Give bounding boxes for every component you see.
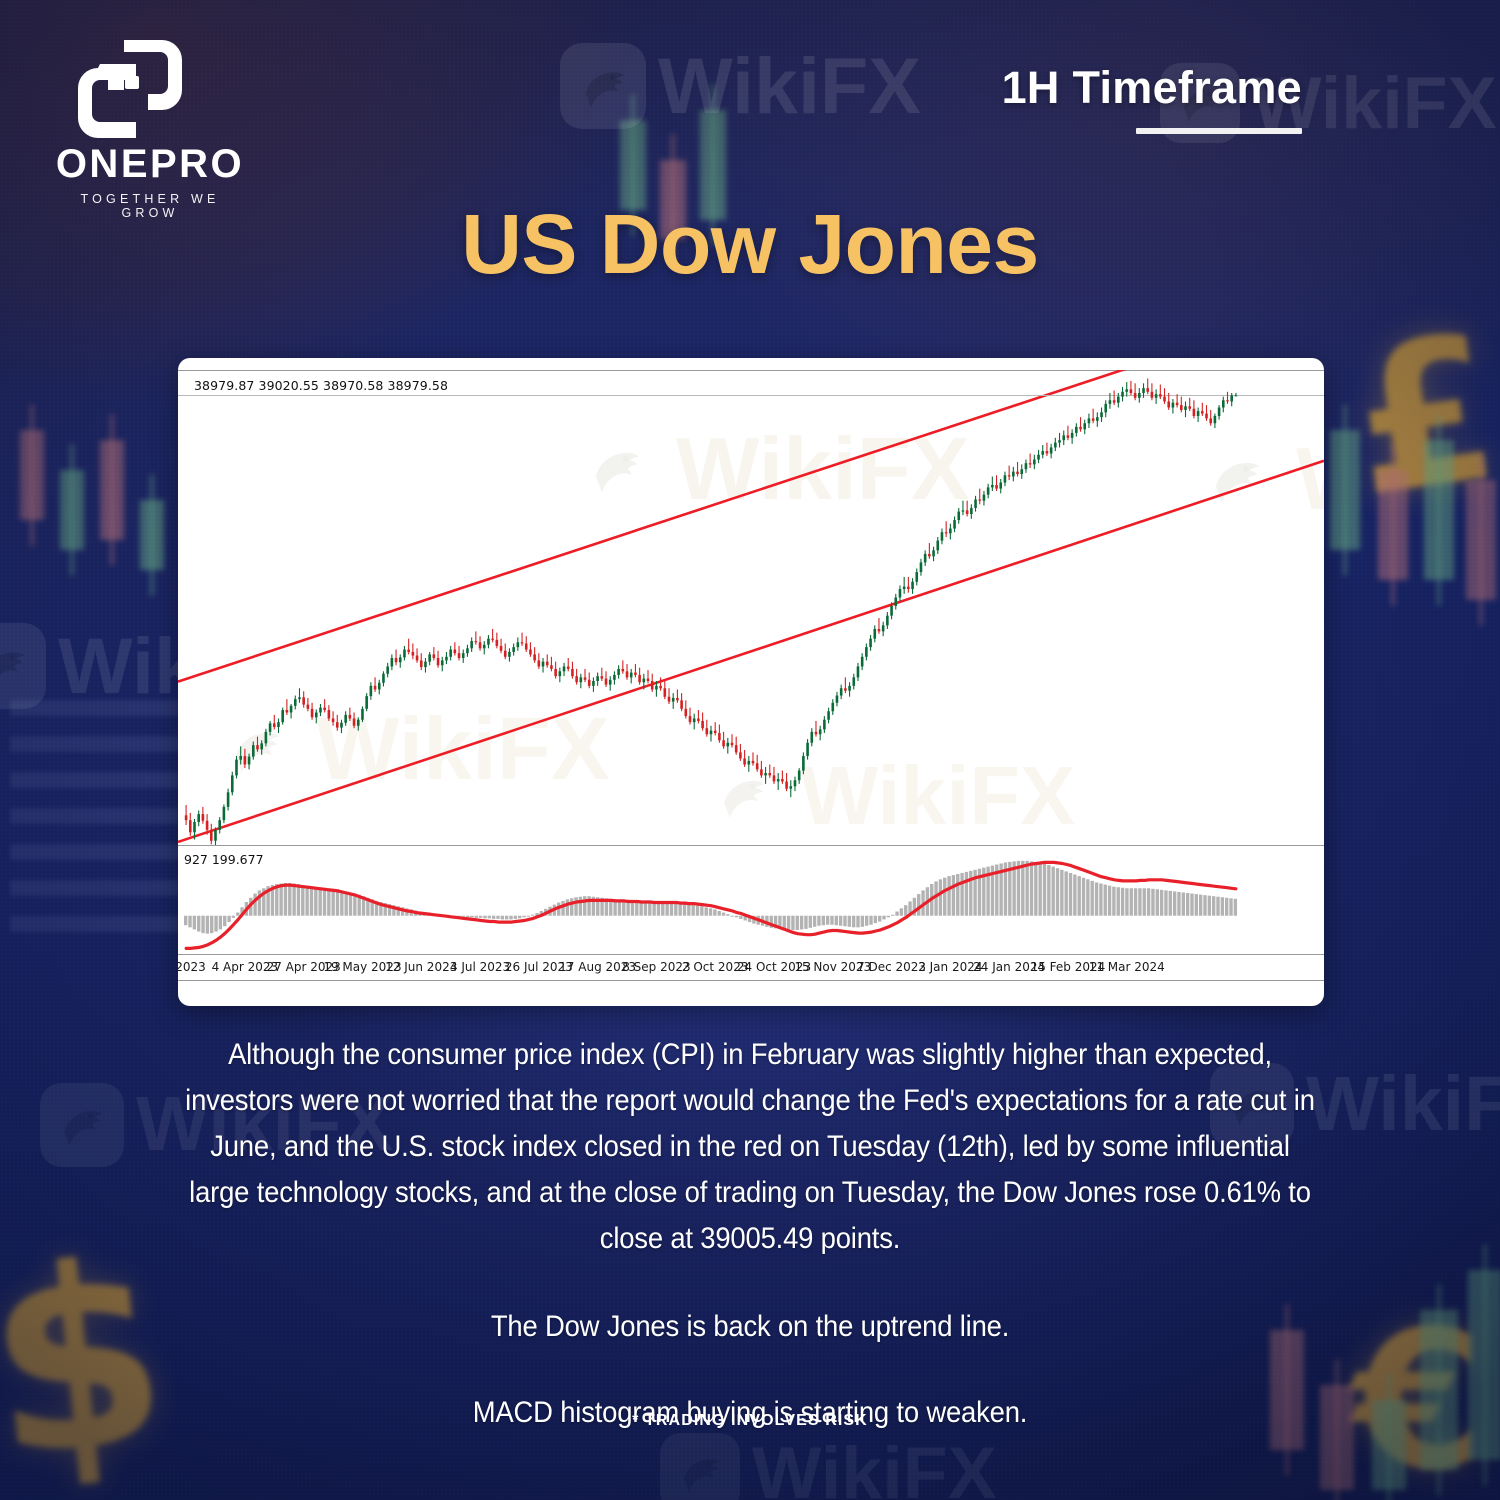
- candle-body: [521, 642, 524, 643]
- candle-body: [1067, 435, 1070, 437]
- candle-body: [680, 700, 683, 708]
- macd-histogram-bar: [1234, 899, 1237, 916]
- macd-histogram-bar: [1125, 888, 1128, 915]
- macd-histogram-bar: [900, 908, 903, 915]
- macd-histogram-bar: [1160, 890, 1163, 916]
- macd-histogram-bar: [947, 876, 950, 916]
- x-axis-tick-label: 11 Mar 2024: [1089, 960, 1165, 974]
- macd-histogram-bar: [1104, 885, 1107, 916]
- candle-body: [747, 761, 750, 765]
- macd-histogram-bar: [683, 904, 686, 916]
- candle-body: [1020, 469, 1023, 474]
- candle-body: [567, 666, 570, 668]
- macd-histogram-bar: [1130, 888, 1133, 915]
- macd-histogram-bar: [1025, 861, 1028, 916]
- price-candlestick-chart[interactable]: [178, 370, 1324, 848]
- macd-histogram-bar: [843, 916, 846, 927]
- chart-panel[interactable]: 38979.87 39020.55 38970.58 38979.58 927 …: [178, 358, 1324, 1006]
- macd-histogram-bar: [188, 916, 191, 928]
- candle-body: [601, 676, 604, 678]
- candle-body: [1130, 389, 1133, 393]
- candle-body: [319, 708, 322, 713]
- macd-histogram-bar: [475, 916, 478, 918]
- candle-body: [370, 686, 373, 696]
- macd-histogram-bar: [1021, 861, 1024, 916]
- macd-histogram-bar: [952, 875, 955, 916]
- candle-body: [1205, 414, 1208, 419]
- candle-body: [269, 723, 272, 731]
- candle-body: [957, 512, 960, 520]
- brand-name: ONEPRO: [50, 142, 250, 187]
- macd-histogram-bar: [1099, 884, 1102, 916]
- candle-body: [466, 648, 469, 653]
- macd-histogram-bar: [574, 897, 577, 915]
- candle-body: [1138, 393, 1141, 398]
- macd-histogram-bar: [466, 916, 469, 918]
- candle-body: [941, 532, 944, 540]
- candle-body: [664, 688, 667, 696]
- candle-body: [588, 680, 591, 686]
- macd-histogram-bar: [1169, 891, 1172, 916]
- macd-histogram-bar: [292, 884, 295, 916]
- macd-histogram-bar: [639, 902, 642, 916]
- macd-histogram-bar: [488, 916, 491, 919]
- macd-histogram-bar: [344, 891, 347, 915]
- macd-histogram-bar: [1078, 876, 1081, 916]
- candle-body: [525, 643, 528, 649]
- macd-histogram-bar: [566, 899, 569, 915]
- candle-body: [773, 775, 776, 781]
- candle-body: [496, 640, 499, 646]
- candle-body: [1058, 440, 1061, 442]
- candle-body: [454, 650, 457, 654]
- macd-histogram-bar: [1208, 896, 1211, 916]
- macd-histogram-bar: [943, 878, 946, 916]
- candle-body: [1037, 455, 1040, 460]
- macd-histogram-bar: [709, 908, 712, 915]
- candle-body: [1134, 393, 1137, 398]
- macd-histogram-bar: [691, 905, 694, 916]
- candle-body: [420, 660, 423, 667]
- macd-histogram-bar: [1073, 875, 1076, 916]
- candle-body: [273, 723, 276, 727]
- macd-histogram-bar: [835, 916, 838, 926]
- macd-histogram-bar: [1182, 892, 1185, 915]
- interlocking-squares-icon: [72, 34, 192, 138]
- candle-body: [1125, 389, 1128, 391]
- page-title: US Dow Jones: [0, 196, 1500, 293]
- macd-histogram-bar: [297, 884, 300, 916]
- macd-histogram-bar: [279, 884, 282, 916]
- candle-body: [315, 712, 318, 717]
- macd-histogram-bar: [1138, 888, 1141, 915]
- macd-histogram-bar: [657, 903, 660, 916]
- candle-body: [1088, 418, 1091, 423]
- candle-body: [227, 792, 230, 807]
- candle-body: [886, 616, 889, 626]
- body-paragraph: Although the consumer price index (CPI) …: [183, 1032, 1318, 1262]
- macd-histogram-bar: [830, 916, 833, 925]
- candle-body: [344, 715, 347, 723]
- macd-histogram-bar: [865, 916, 868, 926]
- candle-body: [1117, 397, 1120, 403]
- candle-body: [1109, 400, 1112, 404]
- macd-histogram-bar: [956, 874, 959, 916]
- macd-histogram-bar: [201, 916, 204, 933]
- macd-histogram-bar: [253, 894, 256, 916]
- candle-body: [1050, 447, 1053, 453]
- candle-body: [701, 721, 704, 728]
- macd-histogram-bar: [331, 889, 334, 916]
- candle-body: [1062, 435, 1065, 440]
- macd-histogram-bar: [622, 900, 625, 915]
- macd-histogram-bar: [1221, 897, 1224, 915]
- macd-histogram-bar: [214, 916, 217, 932]
- macd-histogram-bar: [874, 916, 877, 923]
- candle-body: [361, 709, 364, 720]
- macd-histogram-bar: [804, 916, 807, 929]
- macd-histogram-bar: [939, 879, 942, 915]
- macd-histogram-series: [184, 861, 1237, 934]
- timeframe-underline: [1136, 128, 1302, 134]
- candle-body: [802, 756, 805, 771]
- macd-histogram-bar: [839, 916, 842, 926]
- candle-body: [1209, 418, 1212, 423]
- candle-body: [1201, 411, 1204, 413]
- candle-body: [848, 686, 851, 691]
- macd-histogram-bar: [856, 916, 859, 928]
- candle-body: [1033, 460, 1036, 465]
- candle-body: [378, 683, 381, 690]
- candle-body: [491, 639, 494, 640]
- candle-body: [827, 711, 830, 719]
- candle-body: [794, 780, 797, 786]
- macd-histogram-bar: [522, 916, 525, 918]
- trendline-lower: [178, 461, 1324, 842]
- candle-body: [962, 510, 965, 511]
- candle-body: [844, 688, 847, 690]
- candle-body: [260, 743, 263, 749]
- candle-body: [1151, 392, 1154, 398]
- candle-body: [659, 686, 662, 688]
- macd-histogram-bar: [284, 883, 287, 916]
- macd-histogram-bar: [1091, 881, 1094, 916]
- macd-histogram-bar: [1047, 865, 1050, 916]
- candle-body: [630, 673, 633, 678]
- candle-body: [483, 645, 486, 649]
- macd-histogram-bar: [509, 916, 512, 920]
- candle-body: [399, 657, 402, 662]
- candle-body: [1235, 395, 1238, 396]
- candle-body: [949, 529, 952, 534]
- candle-body: [1184, 406, 1187, 410]
- macd-histogram-bar: [514, 916, 517, 919]
- candle-body: [1075, 427, 1078, 433]
- candle-body: [781, 779, 784, 781]
- candle-body: [798, 771, 801, 781]
- candle-body: [1226, 400, 1229, 401]
- candle-body: [571, 669, 574, 676]
- candle-body: [655, 686, 658, 690]
- macd-histogram-bar: [1147, 888, 1150, 915]
- candle-body: [991, 485, 994, 487]
- candle-body: [302, 697, 305, 704]
- macd-histogram-bar: [518, 916, 521, 919]
- candle-body: [852, 677, 855, 685]
- candle-body: [433, 654, 436, 658]
- candle-body: [328, 710, 331, 718]
- candle-body: [584, 677, 587, 679]
- candle-body: [596, 676, 599, 681]
- macd-histogram-bar: [670, 904, 673, 916]
- macd-histogram-bar: [1195, 894, 1198, 916]
- macd-histogram-bar: [718, 911, 721, 916]
- candle-body: [1104, 404, 1107, 412]
- macd-histogram-bar: [965, 872, 968, 916]
- candle-body: [189, 820, 192, 832]
- candle-body: [873, 629, 876, 639]
- candle-body: [643, 679, 646, 683]
- candle-body: [869, 639, 872, 647]
- candle-body: [634, 673, 637, 675]
- candle-body: [575, 676, 578, 682]
- macd-histogram-bar: [644, 902, 647, 916]
- macd-histogram-bar: [1121, 888, 1124, 916]
- candle-body: [239, 756, 242, 760]
- macd-histogram-bar: [661, 903, 664, 916]
- candle-body: [323, 708, 326, 710]
- macd-histogram-bar: [570, 898, 573, 915]
- macd-histogram-bar: [791, 916, 794, 930]
- macd-histogram-bar: [813, 916, 816, 927]
- macd-histogram-bar: [197, 916, 200, 932]
- candle-body: [756, 763, 759, 769]
- candle-body: [1188, 406, 1191, 408]
- candle-body: [1142, 388, 1145, 393]
- macd-histogram-bar: [869, 916, 872, 925]
- macd-histogram-bar: [301, 885, 304, 916]
- macd-histogram-bar: [848, 916, 851, 927]
- candle-body: [915, 572, 918, 582]
- candle-body: [286, 710, 289, 712]
- candle-body: [475, 641, 478, 642]
- candle-body: [559, 671, 562, 676]
- candle-body: [928, 554, 931, 556]
- candle-body: [1029, 463, 1032, 464]
- candle-body: [244, 756, 247, 764]
- candle-body: [290, 706, 293, 713]
- candle-body: [407, 650, 410, 652]
- macd-histogram-bar: [731, 916, 734, 917]
- candle-body: [647, 679, 650, 681]
- macd-histogram-bar: [917, 894, 920, 916]
- macd-histogram-bar: [206, 916, 209, 934]
- candle-body: [789, 786, 792, 788]
- candle-body: [605, 679, 608, 685]
- panel-divider-axis-top: [178, 954, 1324, 955]
- macd-histogram-bar: [232, 916, 235, 918]
- macd-histogram-bar: [1190, 894, 1193, 916]
- candle-body: [836, 696, 839, 703]
- macd-histogram-bar: [305, 886, 308, 916]
- macd-histogram-bar: [696, 906, 699, 916]
- macd-histogram-bar: [631, 901, 634, 915]
- macd-histogram-bar: [861, 916, 864, 927]
- macd-histogram-bar: [739, 916, 742, 919]
- macd-histogram-bar: [531, 915, 534, 916]
- candle-body: [760, 769, 763, 775]
- candle-body: [1167, 401, 1170, 407]
- candle-body: [970, 508, 973, 514]
- macd-histogram-bar: [1056, 868, 1059, 916]
- candle-body: [353, 719, 356, 726]
- candle-body: [265, 732, 268, 743]
- macd-histogram-bar: [583, 896, 586, 916]
- panel-divider-axis-bottom: [178, 980, 1324, 981]
- candle-body: [382, 674, 385, 683]
- candle-body: [197, 814, 200, 822]
- candle-body: [1054, 443, 1057, 448]
- candle-body: [1172, 403, 1175, 408]
- macd-histogram-bar: [665, 903, 668, 916]
- candle-body: [903, 587, 906, 589]
- candle-body: [374, 686, 377, 690]
- macd-indicator-chart[interactable]: [178, 850, 1324, 956]
- macd-histogram-bar: [1199, 895, 1202, 916]
- candle-body: [899, 589, 902, 597]
- candle-body: [1041, 451, 1044, 455]
- candle-body: [281, 710, 284, 722]
- candle-body: [538, 660, 541, 666]
- candle-body: [437, 658, 440, 665]
- candle-body: [995, 485, 998, 489]
- candle-body: [1012, 472, 1015, 477]
- brand-logo: ONEPRO TOGETHER WE GROW: [50, 34, 300, 220]
- candle-body: [298, 697, 301, 699]
- candle-body: [920, 562, 923, 572]
- candle-body: [689, 716, 692, 722]
- candle-body: [722, 740, 725, 746]
- candle-body: [978, 499, 981, 500]
- macd-histogram-bar: [1173, 891, 1176, 915]
- candle-body: [1155, 394, 1158, 398]
- macd-histogram-bar: [1069, 873, 1072, 916]
- candle-body: [218, 820, 221, 830]
- candle-body: [726, 743, 729, 747]
- macd-histogram-bar: [1134, 888, 1137, 915]
- candle-body: [412, 652, 415, 656]
- panel-divider-macd: [178, 845, 1324, 846]
- macd-histogram-bar: [687, 905, 690, 916]
- candle-body: [731, 743, 734, 745]
- candle-body: [752, 761, 755, 763]
- candle-body: [672, 698, 675, 702]
- candle-body: [945, 532, 948, 533]
- candle-body: [1180, 405, 1183, 410]
- candle-body: [1025, 463, 1028, 469]
- candle-body: [710, 731, 713, 735]
- candle-body: [810, 732, 813, 743]
- candle-body: [1214, 416, 1217, 423]
- macd-histogram-bar: [223, 916, 226, 927]
- candle-body: [1016, 472, 1019, 474]
- macd-histogram-bar: [227, 916, 230, 922]
- macd-histogram-bar: [704, 907, 707, 915]
- candle-body: [332, 719, 335, 723]
- candle-body: [235, 760, 238, 776]
- candle-body: [1096, 417, 1099, 421]
- candle-body: [907, 587, 910, 589]
- macd-histogram-bar: [340, 890, 343, 915]
- candle-body: [252, 745, 255, 756]
- macd-histogram-bar: [1086, 879, 1089, 915]
- macd-histogram-bar: [817, 916, 820, 926]
- candle-body: [1008, 475, 1011, 476]
- candle-body: [193, 822, 196, 832]
- macd-histogram-bar: [561, 901, 564, 916]
- candle-body: [936, 541, 939, 551]
- candle-body: [185, 815, 188, 820]
- candle-body: [1222, 400, 1225, 407]
- macd-histogram-bar: [809, 916, 812, 928]
- candle-body: [311, 709, 314, 717]
- candle-body: [504, 651, 507, 657]
- candle-body: [932, 550, 935, 556]
- candle-body: [617, 669, 620, 675]
- candle-body: [638, 675, 641, 682]
- candle-body: [462, 653, 465, 658]
- candlestick-series: [185, 378, 1237, 845]
- candle-body: [1197, 411, 1200, 416]
- macd-histogram-bar: [1060, 870, 1063, 916]
- macd-histogram-bar: [236, 913, 239, 916]
- candle-body: [554, 669, 557, 676]
- candle-body: [953, 520, 956, 528]
- macd-histogram-bar: [1143, 888, 1146, 915]
- candle-body: [231, 775, 234, 792]
- macd-histogram-bar: [1043, 864, 1046, 916]
- candle-body: [487, 639, 490, 645]
- macd-histogram-bar: [1038, 863, 1041, 916]
- candle-body: [445, 657, 448, 661]
- candle-body: [508, 652, 511, 657]
- candle-body: [857, 666, 860, 677]
- candle-body: [441, 660, 444, 665]
- macd-histogram-bar: [1186, 893, 1189, 916]
- candle-body: [416, 656, 419, 661]
- macd-histogram-bar: [184, 916, 187, 926]
- x-axis-tick-label: 12 Jun 2023: [385, 960, 457, 974]
- macd-histogram-bar: [505, 916, 508, 920]
- candle-body: [1176, 403, 1179, 405]
- macd-histogram-bar: [336, 889, 339, 915]
- candle-body: [861, 657, 864, 667]
- macd-histogram-bar: [1229, 898, 1232, 915]
- macd-histogram-bar: [652, 903, 655, 916]
- macd-histogram-bar: [1065, 871, 1068, 915]
- note-uptrend: The Dow Jones is back on the uptrend lin…: [183, 1304, 1318, 1350]
- candle-body: [210, 830, 213, 841]
- macd-histogram-bar: [895, 911, 898, 915]
- candle-body: [999, 483, 1002, 489]
- candle-body: [823, 720, 826, 730]
- macd-histogram-bar: [1225, 898, 1228, 916]
- candle-body: [806, 743, 809, 756]
- macd-histogram-bar: [904, 905, 907, 916]
- macd-histogram-bar: [1082, 878, 1085, 916]
- macd-histogram-bar: [318, 887, 321, 916]
- candle-body: [529, 650, 532, 655]
